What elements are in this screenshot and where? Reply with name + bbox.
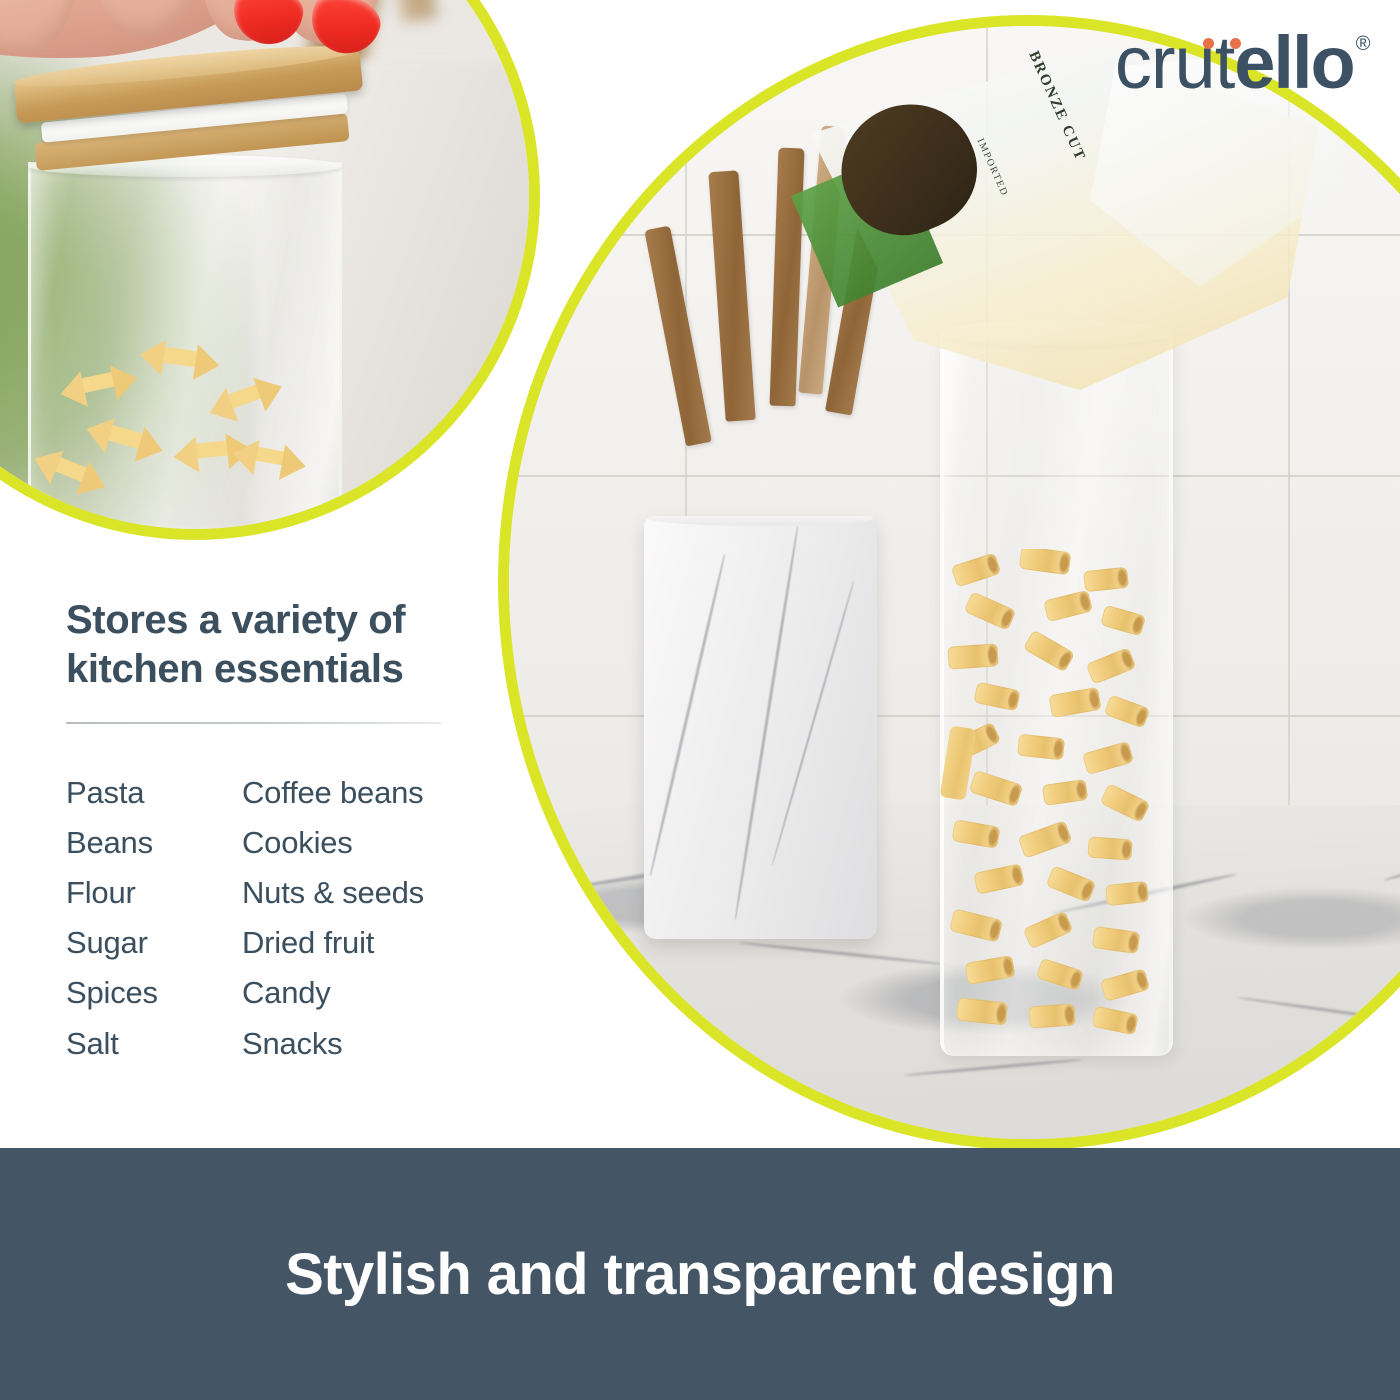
list-column-right: Coffee beans Cookies Nuts & seeds Dried …	[242, 768, 486, 1069]
list-item: Cookies	[242, 818, 486, 868]
bottom-caption-banner: Stylish and transparent design	[0, 1148, 1400, 1400]
logo-text-umlaut-letters: ut	[1175, 21, 1235, 104]
hand-holding-lid	[0, 0, 449, 155]
banner-caption: Stylish and transparent design	[285, 1241, 1115, 1308]
list-item: Snacks	[242, 1019, 486, 1069]
rigatoni-fill	[944, 549, 1170, 1055]
umlaut-dots-icon	[1200, 38, 1262, 52]
list-item: Spices	[66, 968, 242, 1018]
logo-wordmark: crutello	[1115, 26, 1354, 100]
storable-items-lists: Pasta Beans Flour Sugar Spices Salt Coff…	[66, 768, 486, 1069]
list-item: Beans	[66, 818, 242, 868]
headline-line-2: kitchen essentials	[66, 645, 486, 694]
feature-text-block: Stores a variety of kitchen essentials P…	[66, 596, 486, 1069]
photo-circle-lid-removal	[0, 0, 540, 540]
fingernail-red	[228, 0, 308, 51]
registered-trademark-icon: ®	[1356, 34, 1370, 54]
list-item: Pasta	[66, 768, 242, 818]
list-item: Flour	[66, 868, 242, 918]
headline-line-1: Stores a variety of	[66, 596, 486, 645]
logo-text-light: cr	[1115, 21, 1175, 104]
page-title: Stores a variety of kitchen essentials	[66, 596, 486, 694]
list-item: Sugar	[66, 918, 242, 968]
photo-circle-pouring-pasta: BRONZE CUT IMPORTED	[498, 15, 1400, 1150]
brand-logo: crutello ®	[1115, 26, 1370, 100]
list-item: Candy	[242, 968, 486, 1018]
product-infographic: crutello ®	[0, 0, 1400, 1400]
pouring-pasta-scene: BRONZE CUT IMPORTED	[509, 26, 1400, 1139]
lid-removal-scene	[0, 0, 529, 529]
list-item: Nuts & seeds	[242, 868, 486, 918]
section-divider	[66, 722, 441, 724]
fingernail-red	[302, 0, 387, 64]
list-item: Coffee beans	[242, 768, 486, 818]
list-item: Dried fruit	[242, 918, 486, 968]
list-column-left: Pasta Beans Flour Sugar Spices Salt	[66, 768, 242, 1069]
marble-utensil-crock	[644, 516, 878, 939]
list-item: Salt	[66, 1019, 242, 1069]
tall-glass-jar	[940, 332, 1174, 1055]
logo-text-bold: ello	[1234, 21, 1353, 104]
